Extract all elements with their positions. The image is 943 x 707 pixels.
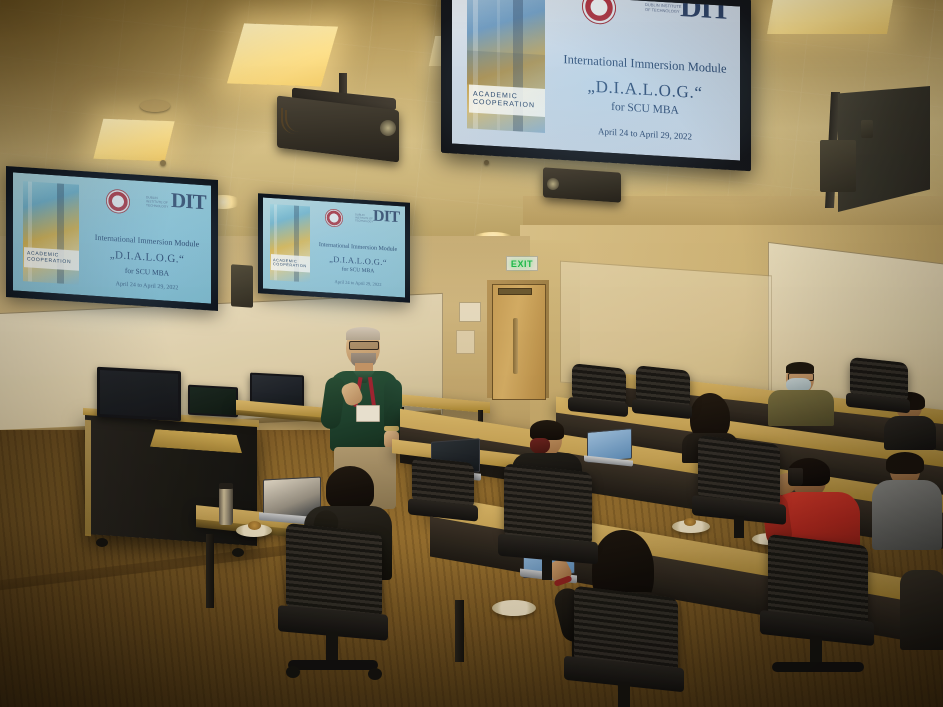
face-mask bbox=[530, 438, 550, 454]
coffee-cup bbox=[788, 468, 803, 486]
chair-right-front[interactable] bbox=[756, 540, 882, 690]
slide-photo-caption: ACADEMIC COOPERATION bbox=[469, 84, 545, 117]
laptop-mid-right[interactable] bbox=[584, 430, 632, 468]
ceiling-light-panel bbox=[227, 23, 338, 86]
presenter-name-badge bbox=[356, 405, 380, 422]
chair-back-row-2[interactable] bbox=[632, 368, 694, 424]
chair-post bbox=[618, 682, 630, 707]
photo-shadow bbox=[467, 50, 545, 89]
chair-front-left[interactable] bbox=[274, 528, 394, 678]
sprinkler-head bbox=[160, 160, 166, 166]
ceiling-light-panel bbox=[93, 119, 174, 162]
hair bbox=[530, 420, 564, 440]
chair-front-center[interactable] bbox=[560, 592, 692, 707]
slide-photo: ACADEMIC COOPERATION bbox=[23, 181, 79, 285]
slide-photo: ACADEMIC COOPERATION bbox=[270, 204, 310, 283]
jacket bbox=[768, 390, 834, 426]
projector-lens-icon bbox=[380, 120, 396, 136]
ceiling-mounted-tv: DIT DUBLIN INSTITUTE OF TECHNOLOGY ACADE… bbox=[441, 0, 751, 171]
desk-leg bbox=[206, 534, 214, 608]
hair bbox=[886, 452, 924, 474]
desk-leg bbox=[455, 600, 464, 662]
chair-backrest bbox=[504, 463, 592, 544]
wall-speaker bbox=[231, 264, 253, 308]
student-far-right bbox=[900, 560, 943, 650]
tv-cable-box bbox=[861, 120, 873, 138]
ceiling-speaker bbox=[140, 100, 170, 112]
slide-photo: ACADEMIC COOPERATION bbox=[467, 0, 545, 133]
dit-logo-subtext: DUBLIN INSTITUTE OF TECHNOLOGY bbox=[146, 195, 174, 209]
exit-door[interactable] bbox=[492, 284, 546, 400]
top bbox=[872, 480, 942, 550]
classroom-photo: EXIT DIT DUBLIN INSTITUTE OF TECHNOLOGY … bbox=[0, 0, 943, 707]
scu-seal-icon bbox=[106, 189, 130, 215]
caption-line-2: COOPERATION bbox=[473, 99, 535, 111]
door-handle[interactable] bbox=[513, 318, 518, 374]
chair-mid-left[interactable] bbox=[408, 460, 480, 530]
projection-screen-left: DIT DUBLIN INSTITUTE OF TECHNOLOGY ACADE… bbox=[6, 166, 218, 311]
scu-seal-icon bbox=[325, 208, 343, 227]
projector-lens-icon bbox=[547, 178, 559, 190]
exit-sign-label: EXIT bbox=[511, 259, 533, 269]
side-monitor-1[interactable] bbox=[188, 385, 238, 418]
top bbox=[884, 416, 936, 450]
exit-sign: EXIT bbox=[506, 256, 538, 271]
lectern-side-trim bbox=[85, 420, 91, 536]
slide-photo-caption: ACADEMIC COOPERATION bbox=[24, 247, 79, 271]
lectern-caster bbox=[232, 548, 244, 557]
chair-post bbox=[542, 556, 552, 580]
tv-slide: DIT DUBLIN INSTITUTE OF TECHNOLOGY ACADE… bbox=[452, 0, 740, 161]
chair-back-row-3[interactable] bbox=[846, 360, 912, 418]
chair-post bbox=[734, 516, 744, 538]
lectern-monitor[interactable] bbox=[97, 367, 181, 421]
wall-placard bbox=[459, 302, 481, 322]
presenter-watch bbox=[384, 426, 399, 431]
monitor-screen bbox=[190, 387, 236, 415]
top bbox=[900, 570, 943, 650]
chair-right-rear[interactable] bbox=[690, 440, 790, 544]
chair-base bbox=[772, 662, 864, 672]
tv-mount-bracket bbox=[820, 140, 856, 192]
caption-line-2: COOPERATION bbox=[27, 257, 71, 266]
chair-caster bbox=[286, 666, 300, 678]
insulated-tumbler bbox=[219, 487, 233, 525]
chair-backrest bbox=[286, 523, 382, 617]
hair bbox=[786, 362, 814, 373]
plate-front-right bbox=[492, 600, 536, 616]
chair-back-row-1[interactable] bbox=[568, 366, 630, 422]
chair-caster bbox=[368, 668, 382, 680]
dit-logo-text: DIT bbox=[373, 210, 400, 224]
projection-slide-left: DIT DUBLIN INSTITUTE OF TECHNOLOGY ACADE… bbox=[13, 172, 211, 303]
tumbler-lid bbox=[219, 483, 233, 489]
hair bbox=[326, 466, 374, 510]
projection-slide-right: DIT DUBLIN INSTITUTE OF TECHNOLOGY ACADE… bbox=[263, 198, 405, 298]
monitor-screen bbox=[100, 370, 178, 418]
student-right-grey bbox=[872, 452, 943, 552]
presenter-hair bbox=[346, 327, 380, 340]
caption-line-2: COOPERATION bbox=[273, 262, 307, 269]
presenter-glasses-icon bbox=[349, 341, 379, 350]
projection-screen-right: DIT DUBLIN INSTITUTE OF TECHNOLOGY ACADE… bbox=[258, 193, 410, 303]
lectern-caster bbox=[96, 538, 108, 547]
chair-center[interactable] bbox=[494, 468, 604, 588]
door-vision-panel bbox=[498, 288, 532, 295]
ceiling-light-panel bbox=[767, 0, 893, 34]
dit-logo-text: DIT bbox=[171, 192, 206, 211]
slide-photo-caption: ACADEMIC COOPERATION bbox=[271, 254, 310, 273]
dit-logo-subtext: DUBLIN INSTITUTE OF TECHNOLOGY bbox=[355, 213, 375, 224]
wall-placard-lower bbox=[456, 330, 475, 354]
student-back-jacket bbox=[766, 362, 836, 424]
sprinkler-head bbox=[484, 160, 489, 165]
chair-base bbox=[288, 660, 378, 670]
